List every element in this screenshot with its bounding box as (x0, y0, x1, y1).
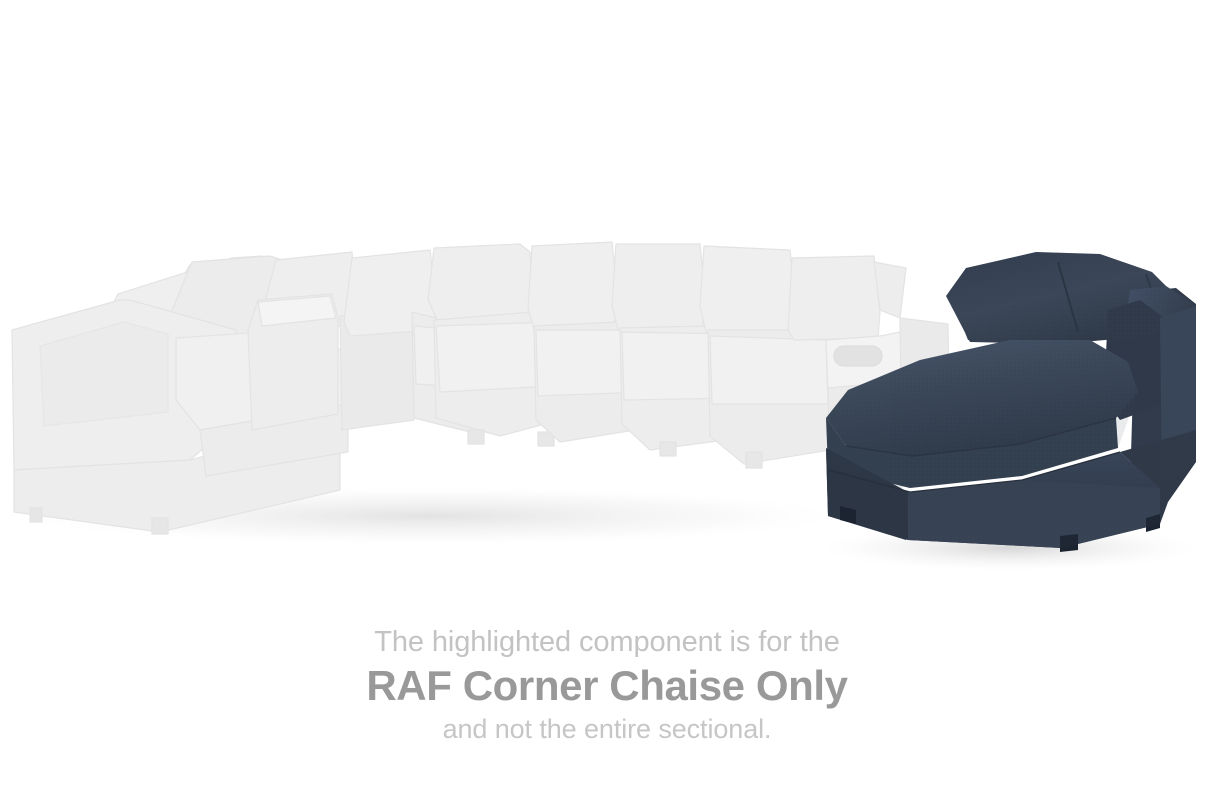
caption-block: The highlighted component is for the RAF… (0, 628, 1214, 743)
ghost-back-cushion-console-right (788, 256, 880, 340)
ghost-leg-3 (468, 430, 484, 444)
ghost-cupholder-3 (834, 346, 882, 366)
ghost-seat-ac4 (710, 336, 828, 404)
product-figure (0, 0, 1214, 610)
ghost-leg-2 (152, 518, 168, 534)
caption-line-primary: The highlighted component is for the (0, 628, 1214, 657)
ghost-back-cushion-ac3 (612, 244, 706, 330)
caption-line-disclaimer: and not the entire sectional. (0, 716, 1214, 743)
caption-line-component-name: RAF Corner Chaise Only (0, 665, 1214, 707)
product-image-stage: The highlighted component is for the RAF… (0, 0, 1214, 810)
ghost-back-cushion-ac4 (700, 246, 796, 332)
ghost-back-cushion-ac2 (528, 242, 618, 330)
ghost-leg-5 (660, 442, 676, 456)
sofa-illustration-svg (0, 0, 1214, 610)
ghost-leg-6 (746, 452, 762, 468)
ghost-leg-1 (30, 508, 42, 522)
